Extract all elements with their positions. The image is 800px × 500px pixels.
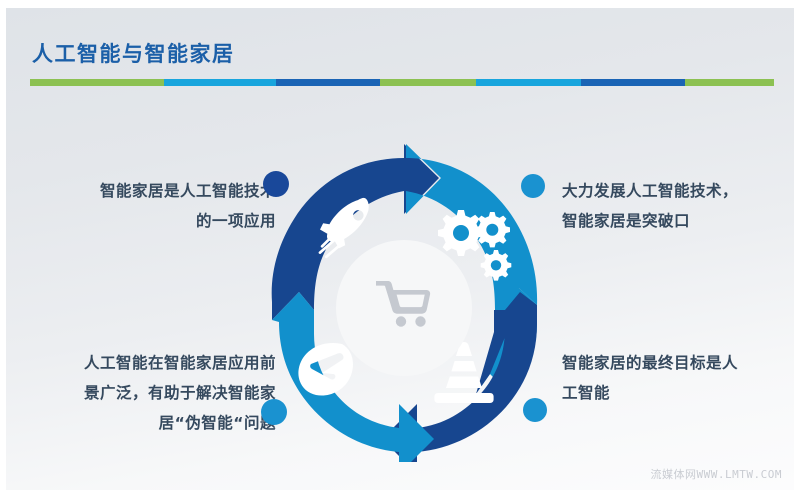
- accent-dot-top-left: [263, 171, 289, 197]
- callout-bottom-left: 人工智能在智能家居应用前 景广泛，有助于解决智能家 居“伪智能“问题: [14, 348, 276, 438]
- slide-canvas: 人工智能与智能家居 智能家居是人工智能技术 的一项应用 大力发展人工智能技术， …: [6, 8, 794, 490]
- accent-dot-top-right: [521, 174, 545, 198]
- segment-green-2: [380, 79, 477, 86]
- page-title: 人工智能与智能家居: [32, 38, 235, 68]
- callout-top-left: 智能家居是人工智能技术 的一项应用: [26, 176, 276, 236]
- segment-cyan-1: [164, 79, 276, 86]
- segment-green-3: [685, 79, 774, 86]
- segment-navy-1: [276, 79, 380, 86]
- accent-dot-bottom-left: [261, 399, 287, 425]
- segment-green-1: [30, 79, 164, 86]
- callout-top-right: 大力发展人工智能技术， 智能家居是突破口: [562, 176, 794, 236]
- watermark: 流媒体网WWW.LMTW.COM: [651, 466, 782, 482]
- callout-bottom-right: 智能家居的最终目标是人 工智能: [562, 348, 794, 408]
- cycle-diagram: [254, 142, 554, 462]
- segment-cyan-2: [476, 79, 580, 86]
- slide: 人工智能与智能家居 智能家居是人工智能技术 的一项应用 大力发展人工智能技术， …: [0, 0, 800, 500]
- segment-navy-2: [581, 79, 685, 86]
- cycle-center: [336, 240, 472, 376]
- header-divider-bar: [30, 79, 774, 86]
- accent-dot-bottom-right: [523, 398, 547, 422]
